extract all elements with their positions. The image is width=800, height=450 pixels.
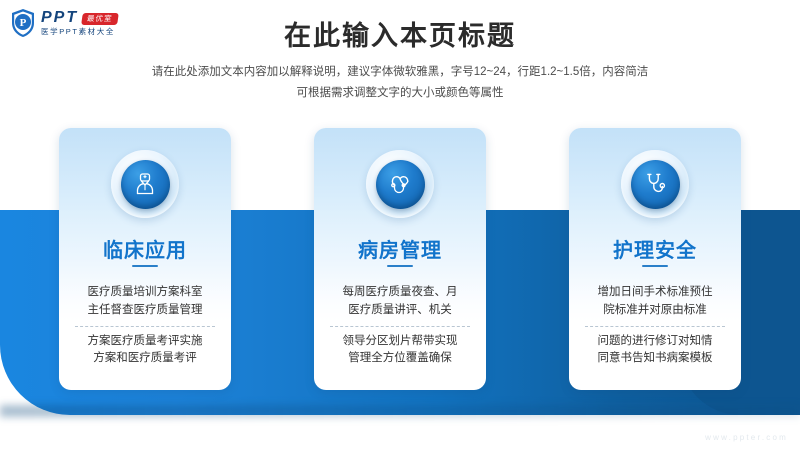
card-body-line: 医疗质量讲评、机关 [324, 302, 476, 320]
card-body-line: 院标准并对原由标准 [579, 302, 731, 320]
card-dashed-divider [330, 326, 470, 327]
card-title: 护理安全 [569, 234, 741, 263]
card-body-block-1: 增加日间手术标准预住 院标准并对原由标准 [579, 284, 731, 320]
card-title-rule [132, 265, 158, 267]
stethoscope-icon [631, 160, 680, 209]
card-body-block-2: 问题的进行修订对知情 同意书告知书病案模板 [579, 333, 731, 369]
footer-watermark: www.ppter.com [705, 433, 788, 442]
card-icon-badge [621, 150, 689, 218]
card-body: 医疗质量培训方案科室 主任督查医疗质量管理 方案医疗质量考评实施 方案和医疗质量… [69, 284, 221, 368]
card-nursing-safety[interactable]: 护理安全 增加日间手术标准预住 院标准并对原由标准 问题的进行修订对知情 同意书… [569, 128, 741, 390]
card-title-rule [387, 265, 413, 267]
card-body-line: 方案和医疗质量考评 [69, 350, 221, 368]
card-body-line: 主任督查医疗质量管理 [69, 302, 221, 320]
card-body-block-2: 方案医疗质量考评实施 方案和医疗质量考评 [69, 333, 221, 369]
card-body-line: 每周医疗质量夜查、月 [324, 284, 476, 302]
card-ward-management[interactable]: 病房管理 每周医疗质量夜查、月 医疗质量讲评、机关 领导分区划片帮带实现 管理全… [314, 128, 486, 390]
card-icon-badge [111, 150, 179, 218]
card-icon-badge [366, 150, 434, 218]
card-clinical-application[interactable]: 临床应用 医疗质量培训方案科室 主任督查医疗质量管理 方案医疗质量考评实施 方案… [59, 128, 231, 390]
card-body-line: 领导分区划片帮带实现 [324, 333, 476, 351]
card-body: 每周医疗质量夜查、月 医疗质量讲评、机关 领导分区划片帮带实现 管理全方位覆盖确… [324, 284, 476, 368]
card-body-line: 方案医疗质量考评实施 [69, 333, 221, 351]
slide-canvas: P PPT 最优室 医学PPT素材大全 在此输入本页标题 请在此处添加文本内容加… [0, 0, 800, 450]
doctor-icon [121, 160, 170, 209]
card-body: 增加日间手术标准预住 院标准并对原由标准 问题的进行修订对知情 同意书告知书病案… [579, 284, 731, 368]
card-title: 临床应用 [59, 234, 231, 263]
card-body-block-1: 医疗质量培训方案科室 主任督查医疗质量管理 [69, 284, 221, 320]
card-body-line: 管理全方位覆盖确保 [324, 350, 476, 368]
card-dashed-divider [585, 326, 725, 327]
card-dashed-divider [75, 326, 215, 327]
card-body-line: 医疗质量培训方案科室 [69, 284, 221, 302]
card-body-line: 同意书告知书病案模板 [579, 350, 731, 368]
card-body-block-1: 每周医疗质量夜查、月 医疗质量讲评、机关 [324, 284, 476, 320]
heart-stethoscope-icon [376, 160, 425, 209]
card-body-line: 问题的进行修订对知情 [579, 333, 731, 351]
card-body-line: 增加日间手术标准预住 [579, 284, 731, 302]
card-title: 病房管理 [314, 234, 486, 263]
card-title-rule [642, 265, 668, 267]
card-list: 临床应用 医疗质量培训方案科室 主任督查医疗质量管理 方案医疗质量考评实施 方案… [0, 0, 800, 450]
card-body-block-2: 领导分区划片帮带实现 管理全方位覆盖确保 [324, 333, 476, 369]
